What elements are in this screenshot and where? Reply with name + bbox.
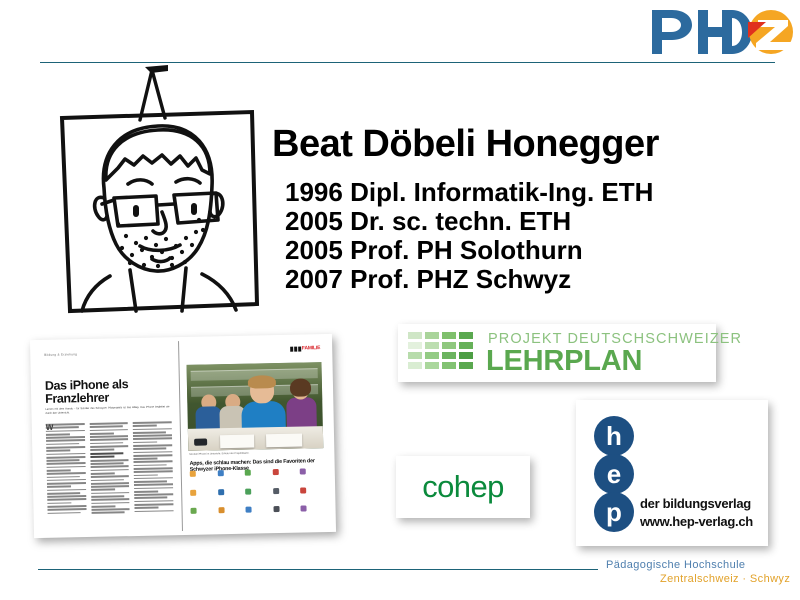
- magazine-column: [133, 421, 174, 524]
- portrait-drawing-icon: [52, 62, 267, 317]
- magazine-headline-line2: Franzlehrer: [45, 391, 109, 406]
- cv-list: 1996 Dipl. Informatik-Ing. ETH 2005 Dr. …: [285, 178, 715, 294]
- hep-letter-h: h: [594, 416, 634, 456]
- cohep-logo-card: cohep: [396, 456, 530, 518]
- photo-desk: [188, 426, 323, 451]
- app-entry: [218, 488, 242, 504]
- magazine-left-page: Bildung & Erziehung Das iPhone als Franz…: [36, 343, 180, 532]
- hep-letter-p: p: [594, 492, 634, 532]
- magazine-kicker: Bildung & Erziehung: [44, 352, 77, 357]
- footer-region: Zentralschweiz · Schwyz: [660, 573, 790, 585]
- magazine-app-grid: [190, 468, 325, 524]
- bottom-divider-rule: [38, 569, 598, 570]
- page-title: Beat Döbeli Honegger: [272, 123, 659, 166]
- magazine-masthead-label: FAMILIE: [302, 345, 320, 351]
- app-entry: [218, 507, 242, 523]
- app-entry: [217, 470, 241, 486]
- phz-logo: [648, 6, 796, 58]
- lehrplan-bars-icon: [408, 332, 480, 374]
- magazine-photo: [187, 362, 324, 451]
- app-entry: [245, 469, 269, 485]
- magazine-photo-caption: Mit dem iPhone im Unterricht: Schüler de…: [189, 450, 323, 456]
- app-entry: [246, 507, 270, 523]
- magazine-headline: Das iPhone als Franzlehrer: [45, 378, 129, 406]
- app-entry: [273, 487, 297, 503]
- cv-line: 1996 Dipl. Informatik-Ing. ETH: [285, 178, 715, 207]
- magazine-masthead: FAMILIE: [290, 345, 320, 352]
- magazine-right-page: FAMILIE: [182, 340, 330, 529]
- app-entry: [190, 470, 214, 486]
- lehrplan-logo-card: PROJEKT DEUTSCHSCHWEIZER LEHRPLAN: [398, 324, 716, 382]
- slide-canvas: Beat Döbeli Honegger 1996 Dipl. Informat…: [0, 0, 800, 600]
- hep-letter-e: e: [594, 454, 634, 494]
- app-entry: [301, 505, 325, 521]
- photo-iphone: [194, 438, 207, 445]
- cv-line: 2005 Dr. sc. techn. ETH: [285, 207, 715, 236]
- app-entry: [190, 489, 214, 505]
- app-entry: [300, 468, 324, 484]
- magazine-spread-image: Bildung & Erziehung Das iPhone als Franz…: [30, 334, 336, 538]
- app-entry: [191, 508, 215, 524]
- cv-line: 2007 Prof. PHZ Schwyz: [285, 265, 715, 294]
- footer-institution: Pädagogische Hochschule: [606, 559, 745, 571]
- magazine-body-columns: W: [46, 421, 174, 526]
- phz-logo-icon: [648, 6, 796, 58]
- magazine-column: [89, 422, 130, 525]
- app-entry: [273, 506, 297, 522]
- app-entry: [300, 487, 324, 503]
- app-entry: [245, 488, 269, 504]
- magazine-column: W: [46, 423, 87, 526]
- hep-tagline: der bildungsverlag: [640, 496, 751, 511]
- hep-url: www.hep-verlag.ch: [640, 514, 753, 529]
- cohep-wordmark: cohep: [396, 456, 530, 518]
- cv-line: 2005 Prof. PH Solothurn: [285, 236, 715, 265]
- portrait-sketch: [52, 62, 267, 317]
- app-entry: [273, 469, 297, 485]
- lehrplan-main-line: LEHRPLAN: [486, 346, 642, 376]
- hep-logo-card: h e p der bildungsverlag www.hep-verlag.…: [576, 400, 768, 546]
- magazine-lead: Lernen mit dem Handy – für Schüler des S…: [45, 405, 169, 415]
